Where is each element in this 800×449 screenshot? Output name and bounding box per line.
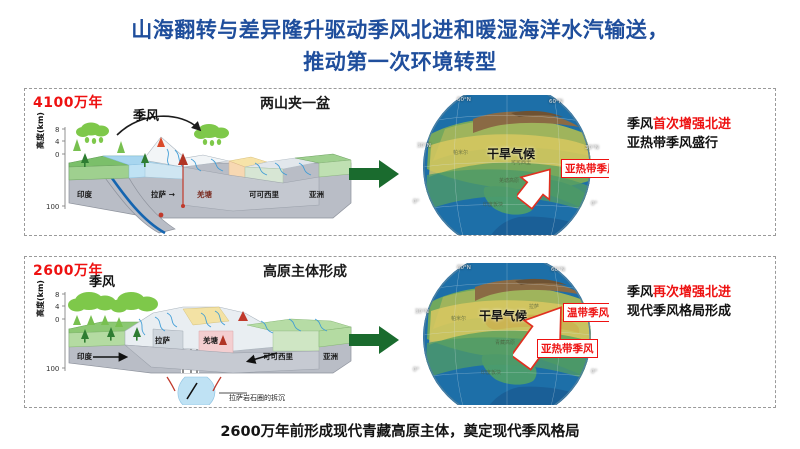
summary-1-prefix: 季风	[627, 117, 653, 132]
panel-stage-2: 2600万年 高原主体形成 高度(km) 8 4 0 100	[24, 256, 776, 408]
monsoon-tag-subtropical-1: 亚热带季风	[561, 159, 609, 178]
terrane-label-qiangtang-2: 羌塘	[203, 335, 218, 346]
lat-tick-0-left-1: 0°	[413, 199, 419, 205]
monsoon-arrow-icon-2	[513, 289, 589, 375]
delamination-annotation: 拉萨岩石圈的拆沉	[229, 393, 285, 403]
terrane-label-asia-2: 亚洲	[323, 351, 338, 362]
summary-text-1-line1: 季风首次增强北进	[627, 115, 731, 134]
lat-tick-60n-left-1: 60°N	[457, 97, 471, 103]
bottom-caption: 2600万年前形成现代青藏高原主体，奠定现代季风格局	[0, 420, 800, 441]
terrane-label-lhasa-2: 拉萨	[155, 335, 170, 346]
lat-tick-60n-left-2: 60°N	[457, 265, 471, 271]
terrane-label-hohxil-1: 可可西里	[249, 189, 279, 200]
terrane-label-lhasa-1: 拉萨 →	[151, 189, 175, 200]
panel-stage-1: 4100万年 两山夹一盆 高度(km) 8 4 0 100	[24, 88, 776, 236]
terrane-label-hohxil-2: 可可西里	[263, 351, 293, 362]
monsoon-tag-temperate-2: 温带季风	[563, 303, 609, 322]
lat-tick-60n-right-1: 60°N	[549, 99, 563, 105]
globe-faint-label-1a: 帕米尔	[453, 149, 468, 156]
globe-faint-label-1c: 羌塘高原	[499, 177, 519, 184]
cross-section-diagram-2: 高度(km) 8 4 0 100	[33, 273, 383, 403]
lat-tick-30n-left-1: 30°N	[417, 143, 431, 149]
lat-tick-60n-right-2: 60°N	[551, 267, 565, 273]
terrane-label-qiangtang-1: 羌塘	[197, 189, 212, 200]
summary-text-2: 季风再次增强北进 现代季风格局形成	[627, 283, 731, 321]
monsoon-label-1: 季风	[133, 105, 159, 124]
summary-text-2-line2: 现代季风格局形成	[627, 302, 731, 321]
lat-tick-30n-left-2: 30°N	[415, 309, 429, 315]
lat-tick-0-left-2: 0°	[413, 367, 419, 373]
summary-2-prefix: 季风	[627, 285, 653, 300]
globe-view-2: 60°N 60°N 30°N 30°N 0° 0° 帕米尔 拉萨 青藏高原 印度…	[409, 263, 609, 405]
terrane-label-asia-1: 亚洲	[309, 189, 324, 200]
terrane-label-india-2: 印度	[77, 351, 92, 362]
slide-root: 山海翻转与差异隆升驱动季风北进和暖湿海洋水汽输送， 推动第一次环境转型 4100…	[0, 0, 800, 449]
summary-text-1-line2: 亚热带季风盛行	[627, 134, 731, 153]
globe-view-1: 60°N 60°N 30°N 30°N 0° 0° 帕米尔 可可西里 羌塘高原 …	[409, 95, 609, 235]
terrane-label-india-1: 印度	[77, 189, 92, 200]
summary-2-highlight: 再次增强北进	[653, 285, 731, 300]
page-title-line2: 推动第一次环境转型	[0, 46, 800, 78]
summary-text-1: 季风首次增强北进 亚热带季风盛行	[627, 115, 731, 153]
transition-arrow-1	[347, 157, 403, 191]
lat-tick-0-right-2: 0°	[591, 369, 597, 375]
globe-faint-label-2c: 青藏高原	[495, 339, 515, 346]
lat-tick-0-right-1: 0°	[591, 201, 597, 207]
monsoon-label-2: 季风	[89, 271, 115, 290]
globe-faint-label-2d: 印度板块	[481, 369, 501, 376]
cross-section-svg-1	[33, 105, 383, 235]
page-title-line1: 山海翻转与差异隆升驱动季风北进和暖湿海洋水汽输送，	[0, 14, 800, 46]
monsoon-tag-subtropical-2: 亚热带季风	[537, 339, 598, 358]
summary-1-highlight: 首次增强北进	[653, 117, 731, 132]
globe-faint-label-1d: 印度板块	[483, 201, 503, 208]
lat-tick-30n-right-1: 30°N	[585, 145, 599, 151]
page-title: 山海翻转与差异隆升驱动季风北进和暖湿海洋水汽输送， 推动第一次环境转型	[0, 14, 800, 78]
summary-text-2-line1: 季风再次增强北进	[627, 283, 731, 302]
globe-faint-label-2a: 帕米尔	[451, 315, 466, 322]
cross-section-diagram-1: 高度(km) 8 4 0 100	[33, 105, 383, 235]
transition-arrow-2	[347, 323, 403, 357]
